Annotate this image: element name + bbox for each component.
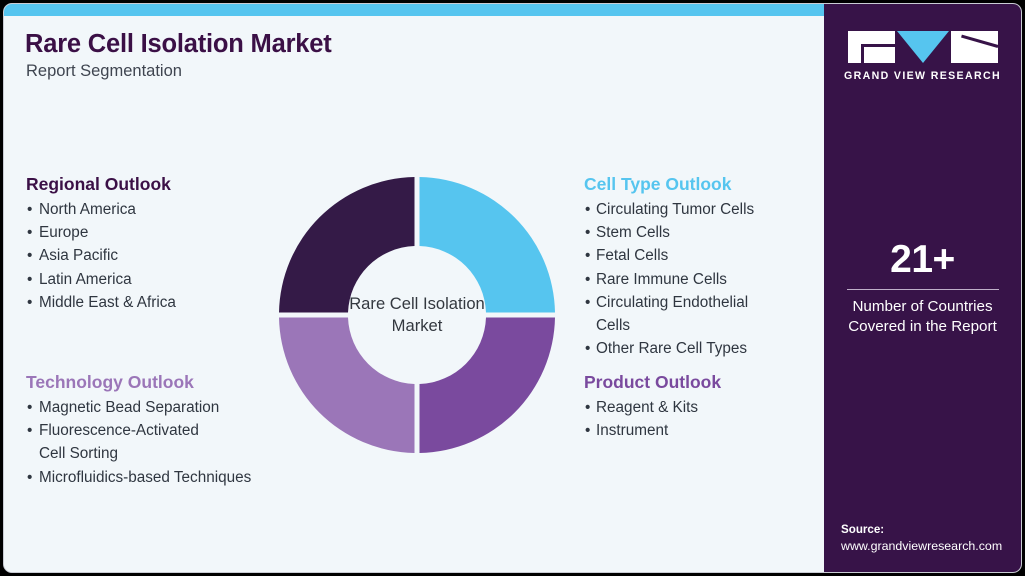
infographic-card: Rare Cell Isolation Market Report Segmen… bbox=[3, 3, 1022, 573]
list-item: Instrument bbox=[584, 419, 721, 442]
regional-outlook-list: North America Europe Asia Pacific Latin … bbox=[26, 198, 176, 314]
cell-type-outlook-list: Circulating Tumor Cells Stem Cells Fetal… bbox=[584, 198, 754, 361]
list-item: Middle East & Africa bbox=[26, 291, 176, 314]
main-content-area: Rare Cell Isolation Market Report Segmen… bbox=[4, 4, 824, 572]
list-item: Latin America bbox=[26, 268, 176, 291]
list-item: Fetal Cells bbox=[584, 244, 754, 267]
donut-segment-technology bbox=[279, 318, 415, 454]
list-item: North America bbox=[26, 198, 176, 221]
segmentation-donut-chart: Rare Cell Isolation Market bbox=[276, 174, 558, 456]
source-block: Source: www.grandviewresearch.com bbox=[841, 521, 1019, 556]
list-item: Circulating Tumor Cells bbox=[584, 198, 754, 221]
cell-type-outlook-heading: Cell Type Outlook bbox=[584, 174, 754, 196]
brand-panel: GRAND VIEW RESEARCH 21+ Number of Countr… bbox=[824, 4, 1021, 572]
page-subtitle: Report Segmentation bbox=[26, 62, 182, 81]
source-url[interactable]: www.grandviewresearch.com bbox=[841, 538, 1019, 556]
list-item: Rare Immune Cells bbox=[584, 268, 754, 291]
product-outlook-list: Reagent & Kits Instrument bbox=[584, 396, 721, 443]
product-outlook-block: Product Outlook Reagent & Kits Instrumen… bbox=[584, 372, 721, 442]
logo-marks bbox=[848, 31, 998, 63]
list-item: Reagent & Kits bbox=[584, 396, 721, 419]
list-item: Other Rare Cell Types bbox=[584, 337, 754, 360]
regional-outlook-block: Regional Outlook North America Europe As… bbox=[26, 174, 176, 314]
list-item: Circulating Endothelial Cells bbox=[584, 291, 754, 338]
logo-r-icon bbox=[951, 31, 998, 63]
donut-segment-regional bbox=[279, 177, 415, 313]
stat-divider bbox=[847, 289, 999, 290]
page-title: Rare Cell Isolation Market bbox=[25, 30, 332, 59]
logo-v-triangle-icon bbox=[897, 31, 949, 63]
donut-segment-cell-type bbox=[420, 177, 556, 313]
list-item: Magnetic Bead Separation bbox=[26, 396, 251, 419]
product-outlook-heading: Product Outlook bbox=[584, 372, 721, 394]
logo-g-icon bbox=[848, 31, 895, 63]
list-item: Microfluidics-based Techniques bbox=[26, 466, 251, 489]
technology-outlook-block: Technology Outlook Magnetic Bead Separat… bbox=[26, 372, 251, 489]
list-item: Fluorescence-Activated Cell Sorting bbox=[26, 419, 251, 466]
donut-svg bbox=[276, 174, 558, 456]
list-item: Stem Cells bbox=[584, 221, 754, 244]
source-label: Source: bbox=[841, 521, 1019, 538]
regional-outlook-heading: Regional Outlook bbox=[26, 174, 176, 196]
stat-value: 21+ bbox=[824, 240, 1021, 279]
technology-outlook-heading: Technology Outlook bbox=[26, 372, 251, 394]
technology-outlook-list: Magnetic Bead Separation Fluorescence-Ac… bbox=[26, 396, 251, 489]
list-item: Asia Pacific bbox=[26, 244, 176, 267]
donut-segment-product bbox=[420, 318, 556, 454]
top-accent-bar bbox=[4, 4, 824, 16]
cell-type-outlook-block: Cell Type Outlook Circulating Tumor Cell… bbox=[584, 174, 754, 361]
list-item: Europe bbox=[26, 221, 176, 244]
stat-caption: Number of Countries Covered in the Repor… bbox=[824, 297, 1021, 338]
countries-stat: 21+ Number of Countries Covered in the R… bbox=[824, 240, 1021, 338]
grand-view-research-logo: GRAND VIEW RESEARCH bbox=[824, 31, 1021, 83]
logo-wordmark: GRAND VIEW RESEARCH bbox=[824, 70, 1021, 82]
